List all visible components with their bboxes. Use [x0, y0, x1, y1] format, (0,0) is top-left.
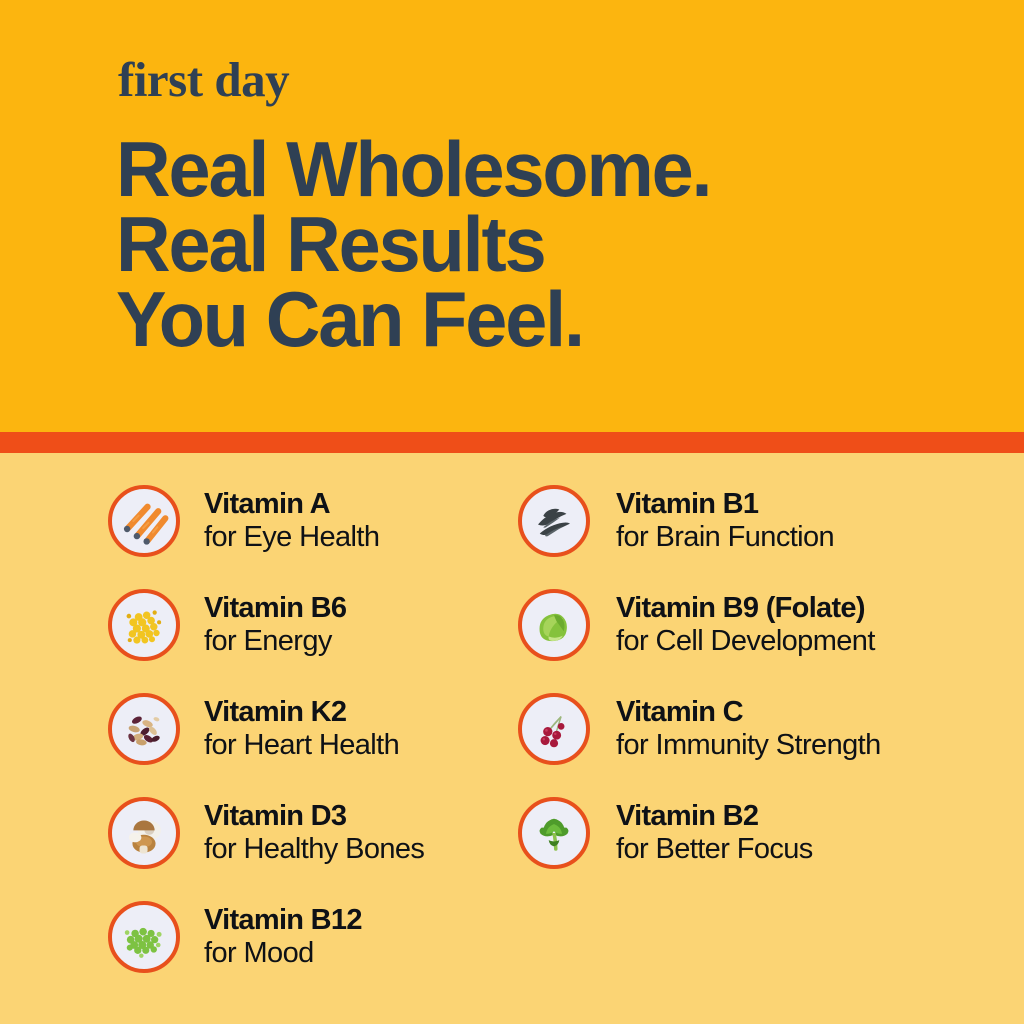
benefit-title: Vitamin B1	[616, 490, 834, 520]
benefit-subtitle: for Energy	[204, 627, 346, 657]
lettuce-icon	[518, 589, 590, 661]
list-item: Vitamin C for Immunity Strength	[518, 689, 881, 769]
mushrooms-icon	[108, 797, 180, 869]
benefit-title: Vitamin B9 (Folate)	[616, 594, 875, 624]
benefit-subtitle: for Brain Function	[616, 523, 834, 553]
benefit-title: Vitamin B12	[204, 906, 362, 936]
benefit-subtitle: for Cell Development	[616, 627, 875, 657]
brand-logo: first day	[118, 55, 289, 104]
benefit-subtitle: for Eye Health	[204, 523, 379, 553]
cherries-icon	[518, 693, 590, 765]
list-item: Vitamin A for Eye Health	[108, 481, 379, 561]
benefit-text: Vitamin A for Eye Health	[204, 490, 379, 552]
benefit-title: Vitamin B2	[616, 802, 813, 832]
benefit-text: Vitamin B12 for Mood	[204, 906, 362, 968]
benefit-text: Vitamin B6 for Energy	[204, 594, 346, 656]
list-item: Vitamin B9 (Folate) for Cell Development	[518, 585, 875, 665]
list-item: Vitamin B2 for Better Focus	[518, 793, 813, 873]
benefit-title: Vitamin K2	[204, 698, 399, 728]
green-peas-icon	[108, 901, 180, 973]
benefit-subtitle: for Immunity Strength	[616, 731, 881, 761]
leafy-greens-icon	[518, 797, 590, 869]
benefit-subtitle: for Better Focus	[616, 835, 813, 865]
headline-line-2: Real Results	[116, 207, 950, 282]
list-item: Vitamin B6 for Energy	[108, 585, 346, 665]
list-item: Vitamin B12 for Mood	[108, 897, 362, 977]
benefit-text: Vitamin B2 for Better Focus	[616, 802, 813, 864]
benefit-title: Vitamin B6	[204, 594, 346, 624]
mixed-beans-icon	[108, 693, 180, 765]
benefit-title: Vitamin C	[616, 698, 881, 728]
list-item: Vitamin D3 for Healthy Bones	[108, 793, 424, 873]
seaweed-icon	[518, 485, 590, 557]
corn-kernels-icon	[108, 589, 180, 661]
promo-poster: first day Real Wholesome. Real Results Y…	[0, 0, 1024, 1024]
benefit-title: Vitamin D3	[204, 802, 424, 832]
list-item: Vitamin K2 for Heart Health	[108, 689, 399, 769]
headline-line-3: You Can Feel.	[116, 282, 950, 357]
page-title: Real Wholesome. Real Results You Can Fee…	[116, 132, 950, 357]
section-divider	[0, 432, 1024, 453]
benefit-title: Vitamin A	[204, 490, 379, 520]
benefit-subtitle: for Mood	[204, 939, 362, 969]
benefits-section: Vitamin A for Eye Health	[0, 453, 1024, 1024]
list-item: Vitamin B1 for Brain Function	[518, 481, 834, 561]
benefit-text: Vitamin B9 (Folate) for Cell Development	[616, 594, 875, 656]
benefit-subtitle: for Heart Health	[204, 731, 399, 761]
benefit-text: Vitamin D3 for Healthy Bones	[204, 802, 424, 864]
benefit-subtitle: for Healthy Bones	[204, 835, 424, 865]
benefit-text: Vitamin C for Immunity Strength	[616, 698, 881, 760]
hero-banner: first day Real Wholesome. Real Results Y…	[0, 0, 1024, 432]
headline-line-1: Real Wholesome.	[116, 132, 950, 207]
benefit-text: Vitamin K2 for Heart Health	[204, 698, 399, 760]
carrots-icon	[108, 485, 180, 557]
benefit-text: Vitamin B1 for Brain Function	[616, 490, 834, 552]
